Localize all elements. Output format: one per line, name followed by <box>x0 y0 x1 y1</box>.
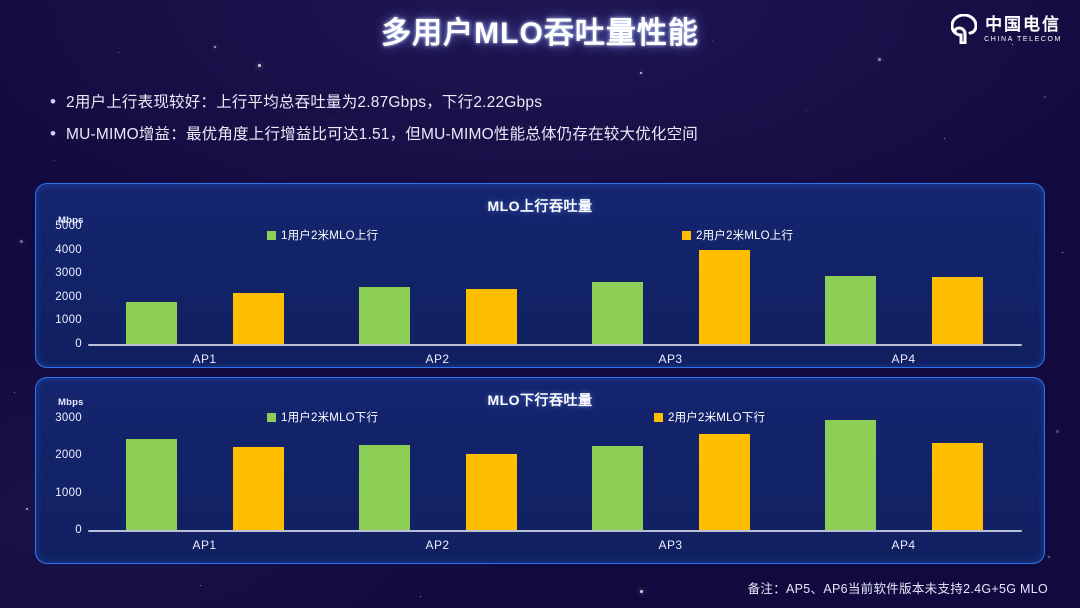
logo-name-cn: 中国电信 <box>985 16 1061 33</box>
bar <box>233 293 284 344</box>
y-axis-tick: 0 <box>36 524 82 536</box>
bar <box>126 302 177 344</box>
chart-title-uplink: MLO上行吞吐量 <box>36 196 1044 216</box>
x-axis-category-label: AP4 <box>854 538 954 552</box>
page-title: 多用户MLO吞吐量性能 <box>0 8 1080 52</box>
y-axis-tick: 3000 <box>36 412 82 424</box>
bar <box>359 287 410 344</box>
bullet-item: • 2用户上行表现较好：上行平均总吞吐量为2.87Gbps，下行2.22Gbps <box>40 92 1040 113</box>
bar <box>932 443 983 530</box>
bullet-item: • MU-MIMO增益：最优角度上行增益比可达1.51，但MU-MIMO性能总体… <box>40 124 1040 145</box>
bar <box>233 447 284 530</box>
footnote: 备注：AP5、AP6当前软件版本未支持2.4G+5G MLO <box>748 578 1048 597</box>
bar <box>825 276 876 344</box>
legend-item[interactable]: 2用户2米MLO下行 <box>654 409 765 425</box>
legend-item[interactable]: 1用户2米MLO下行 <box>267 409 378 425</box>
bullet-text: MU-MIMO增益：最优角度上行增益比可达1.51，但MU-MIMO性能总体仍存… <box>66 124 698 145</box>
y-axis-unit-downlink: Mbps <box>58 397 84 408</box>
x-axis-category-label: AP3 <box>621 538 721 552</box>
x-axis-category-label: AP3 <box>621 352 721 366</box>
legend-item[interactable]: 1用户2米MLO上行 <box>267 227 378 243</box>
slide-canvas: 多用户MLO吞吐量性能 中国电信 CHINA TELECOM • 2用户上行表现… <box>0 0 1080 608</box>
y-axis-tick: 5000 <box>36 220 82 232</box>
y-axis-tick: 3000 <box>36 267 82 279</box>
logo-name-en: CHINA TELECOM <box>984 36 1062 43</box>
y-axis-tick: 2000 <box>36 291 82 303</box>
chart-title-downlink: MLO下行吞吐量 <box>36 390 1044 410</box>
x-axis-category-label: AP2 <box>388 538 488 552</box>
x-axis-category-label: AP1 <box>155 538 255 552</box>
bar <box>592 282 643 344</box>
logo-wordmark: 中国电信 CHINA TELECOM <box>984 16 1062 43</box>
bullet-marker-icon: • <box>40 92 66 112</box>
legend-swatch-icon <box>654 413 663 422</box>
legend-swatch-icon <box>682 231 691 240</box>
y-axis-tick: 1000 <box>36 314 82 326</box>
bullet-marker-icon: • <box>40 124 66 144</box>
y-axis-tick: 0 <box>36 338 82 350</box>
bar <box>126 439 177 530</box>
y-axis-tick: 2000 <box>36 449 82 461</box>
bar <box>699 434 750 530</box>
y-axis-tick: 1000 <box>36 487 82 499</box>
x-axis-baseline <box>88 530 1022 532</box>
bar <box>359 445 410 530</box>
x-axis-category-label: AP4 <box>854 352 954 366</box>
china-telecom-logo: 中国电信 CHINA TELECOM <box>951 14 1062 44</box>
bullet-text: 2用户上行表现较好：上行平均总吞吐量为2.87Gbps，下行2.22Gbps <box>66 92 542 113</box>
x-axis-baseline <box>88 344 1022 346</box>
bar <box>932 277 983 344</box>
chart-panel-uplink: MLO上行吞吐量 Mbps 500040003000200010000AP1AP… <box>35 183 1045 368</box>
legend-label: 2用户2米MLO上行 <box>696 227 793 243</box>
legend-label: 2用户2米MLO下行 <box>668 409 765 425</box>
legend-swatch-icon <box>267 413 276 422</box>
bullet-list: • 2用户上行表现较好：上行平均总吞吐量为2.87Gbps，下行2.22Gbps… <box>40 92 1040 156</box>
legend-label: 1用户2米MLO上行 <box>281 227 378 243</box>
bar <box>466 289 517 344</box>
bar <box>466 454 517 530</box>
y-axis-tick: 4000 <box>36 244 82 256</box>
legend-swatch-icon <box>267 231 276 240</box>
legend-label: 1用户2米MLO下行 <box>281 409 378 425</box>
legend-item[interactable]: 2用户2米MLO上行 <box>682 227 793 243</box>
bar <box>592 446 643 530</box>
bar <box>699 250 750 344</box>
x-axis-category-label: AP2 <box>388 352 488 366</box>
china-telecom-mark-icon <box>951 14 977 44</box>
bar <box>825 420 876 530</box>
x-axis-category-label: AP1 <box>155 352 255 366</box>
chart-panel-downlink: MLO下行吞吐量 Mbps 3000200010000AP1AP2AP3AP41… <box>35 377 1045 564</box>
